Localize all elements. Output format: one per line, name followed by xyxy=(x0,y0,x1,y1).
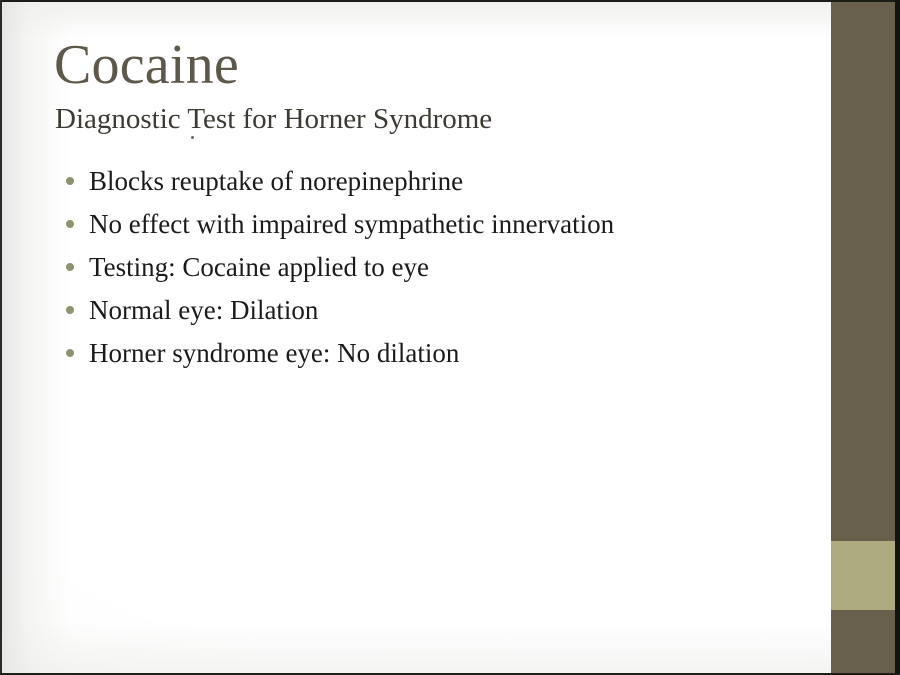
bullet-dot-icon xyxy=(66,263,74,271)
bullet-dot-icon xyxy=(66,349,74,357)
list-item: Testing: Cocaine applied to eye xyxy=(66,250,806,293)
list-item: Blocks reuptake of norepinephrine xyxy=(66,164,806,207)
slide-subtitle: Diagnostic Test for Horner Syndrome xyxy=(55,104,492,136)
frame-edge-left xyxy=(0,0,2,675)
khaki-accent-block xyxy=(831,541,895,610)
frame-edge-right xyxy=(895,0,900,675)
list-item: Horner syndrome eye: No dilation xyxy=(66,336,806,379)
bullet-dot-icon xyxy=(66,306,74,314)
list-item-label: Normal eye: Dilation xyxy=(89,293,318,327)
frame-edge-top xyxy=(0,0,900,2)
background-vignette-bottom xyxy=(0,620,900,675)
list-item-label: Blocks reuptake of norepinephrine xyxy=(89,164,463,198)
list-item: Normal eye: Dilation xyxy=(66,293,806,336)
bullet-dot-icon xyxy=(66,220,74,228)
slide-title: Cocaine xyxy=(54,36,239,95)
presentation-slide: Cocaine Diagnostic Test for Horner Syndr… xyxy=(0,0,900,675)
bullet-list: Blocks reuptake of norepinephrine No eff… xyxy=(66,164,806,379)
background-vignette-left xyxy=(0,0,70,675)
list-item-label: Horner syndrome eye: No dilation xyxy=(89,336,459,370)
list-item-label: Testing: Cocaine applied to eye xyxy=(89,250,429,284)
list-item-label: No effect with impaired sympathetic inne… xyxy=(89,207,614,241)
list-item: No effect with impaired sympathetic inne… xyxy=(66,207,806,250)
scan-speck-artifact xyxy=(191,136,194,139)
bullet-dot-icon xyxy=(66,177,74,185)
